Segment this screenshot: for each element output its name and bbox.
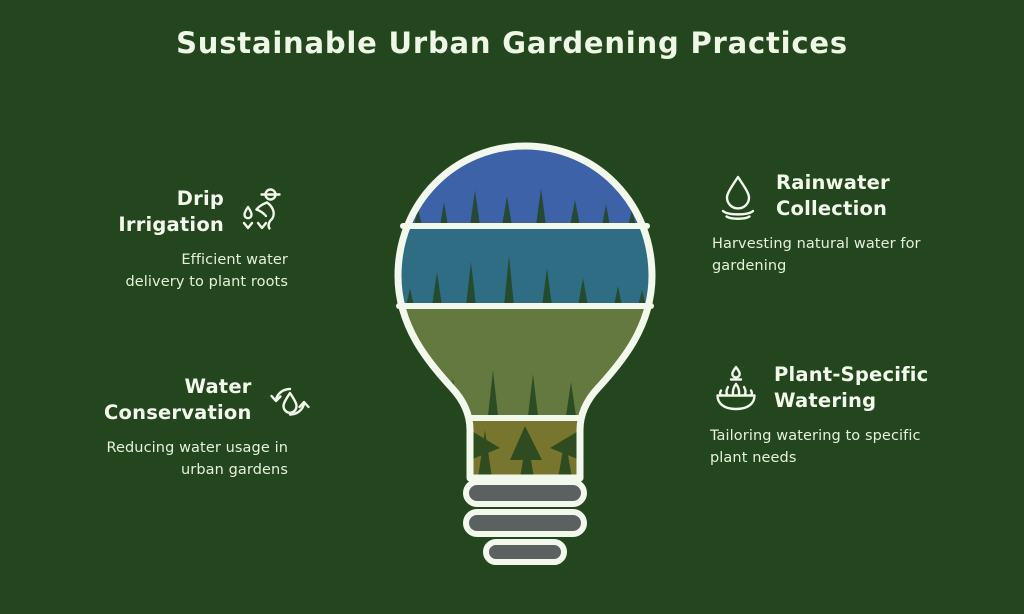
feature-rainwater-collection: Rainwater Collection Harvesting natural … [712,170,942,277]
infographic-canvas: Sustainable Urban Gardening Practices Dr… [0,0,1024,614]
lightbulb-illustration [370,130,680,570]
feature-description: Reducing water usage in urban gardens [104,437,288,481]
feature-title: Plant-Specific Watering [774,362,946,414]
feature-description: Efficient water delivery to plant roots [118,249,288,293]
screw-base [466,482,584,562]
feature-header: Water Conservation [104,374,288,426]
page-title: Sustainable Urban Gardening Practices [0,26,1024,60]
feature-header: Drip Irrigation [118,186,288,238]
droplet-ripple-icon [712,170,764,222]
feature-title: Drip Irrigation [118,186,224,238]
bulb-band-lower [370,306,680,416]
bulb-color-bands [370,130,680,496]
feature-title: Water Conservation [104,374,252,426]
bulb-band-middle [370,226,680,306]
feature-header: Plant-Specific Watering [710,362,946,414]
feature-description: Tailoring watering to specific plant nee… [710,425,946,469]
feature-header: Rainwater Collection [712,170,942,222]
feature-description: Harvesting natural water for gardening [712,233,942,277]
gardener-watering-icon [236,186,288,238]
recycle-droplet-icon [264,374,316,426]
feature-title: Rainwater Collection [776,170,942,222]
potted-plant-droplet-icon [710,362,762,414]
feature-water-conservation: Water Conservation Reducing water usage … [104,374,288,481]
feature-plant-specific-watering: Plant-Specific Watering Tailoring wateri… [710,362,946,469]
feature-drip-irrigation: Drip Irrigation Efficient water delivery… [118,186,288,293]
